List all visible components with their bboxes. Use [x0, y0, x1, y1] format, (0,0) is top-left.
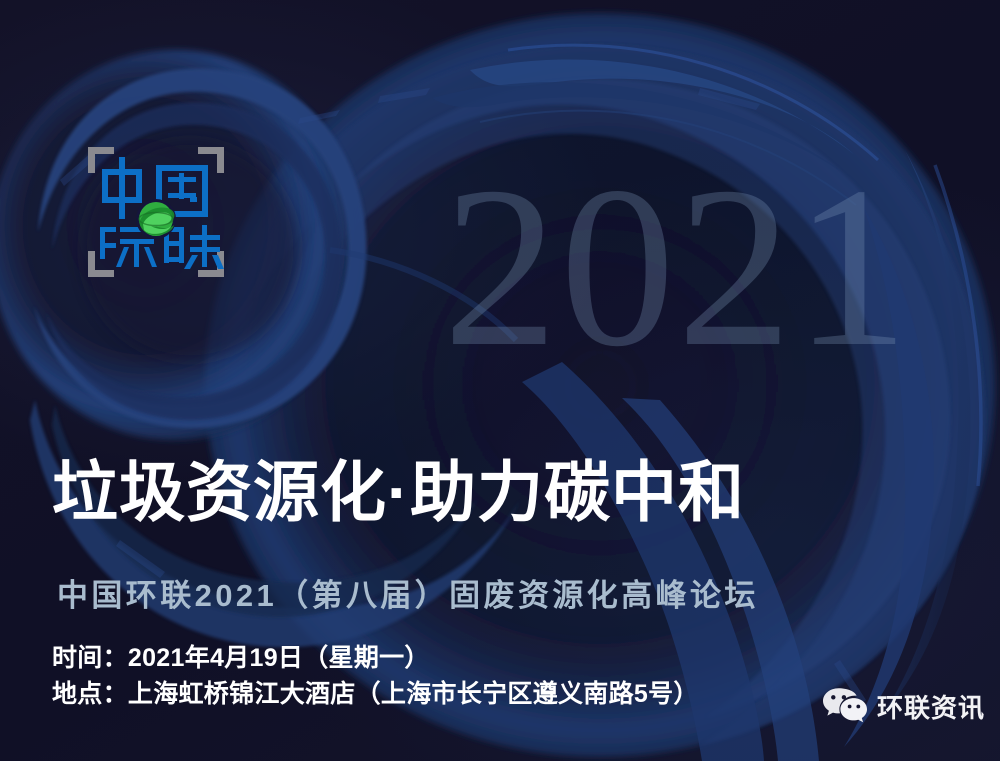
brush-streaks-top [430, 45, 878, 205]
event-time: 时间：2021年4月19日（星期一） [52, 641, 699, 677]
brush-streaks-right [842, 150, 981, 747]
page-title: 垃圾资源化·助力碳中和 [52, 458, 745, 527]
event-details: 时间：2021年4月19日（星期一） 地点：上海虹桥锦江大酒店（上海市长宁区遵义… [52, 641, 699, 712]
event-venue: 地点：上海虹桥锦江大酒店（上海市长宁区遵义南路5号） [52, 677, 699, 713]
conference-poster: 2021 [0, 0, 1000, 761]
wechat-icon [822, 687, 868, 725]
wechat-account-badge[interactable]: 环联资讯 [822, 687, 985, 725]
wechat-account-name: 环联资讯 [877, 688, 985, 725]
organization-logo [88, 147, 224, 277]
year-watermark: 2021 [443, 152, 911, 382]
green-globe-leaf-icon [136, 199, 176, 239]
page-subtitle: 中国环联2021（第八届）固废资源化高峰论坛 [57, 578, 759, 614]
